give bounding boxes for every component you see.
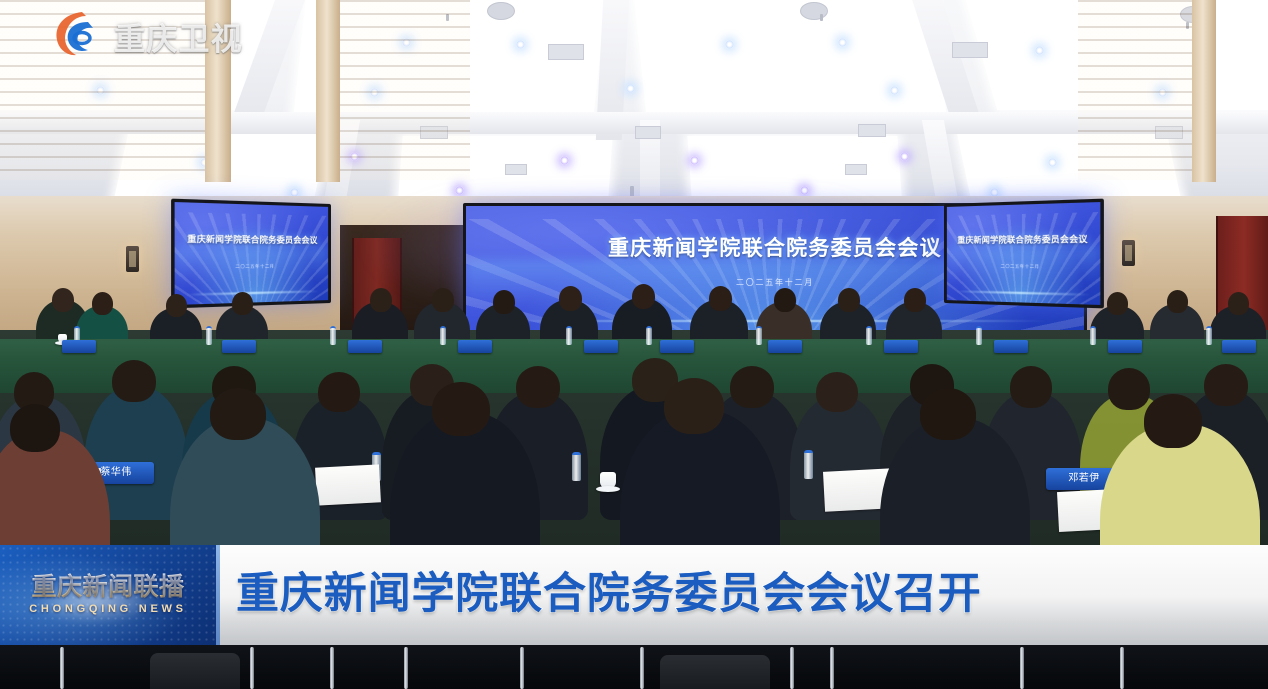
document-sheet	[315, 464, 381, 505]
program-name-en: CHONGQING NEWS	[0, 603, 216, 615]
wall-pilaster-right	[1192, 0, 1216, 182]
badge-panel-divider	[216, 545, 220, 645]
program-name-cn: 重庆新闻联播	[0, 567, 216, 603]
lower-third-banner: 重庆新闻联播 CHONGQING NEWS 重庆新闻学院联合院务委员会会议召开	[0, 545, 1268, 645]
wall-panel-center-left	[330, 0, 470, 180]
tea-cup	[600, 472, 616, 488]
headline-text: 重庆新闻学院联合院务委员会会议召开	[236, 559, 982, 621]
side-display-left-title: 重庆新闻学院联合院务委员会会议	[175, 233, 329, 246]
wall-panel-right	[1078, 0, 1198, 180]
program-badge: 重庆新闻联播 CHONGQING NEWS	[0, 545, 216, 645]
side-display-left: 重庆新闻学院联合院务委员会会议 二〇二五年十二月	[171, 199, 331, 309]
water-bottle	[804, 450, 813, 479]
side-display-right: 重庆新闻学院联合院务委员会会议 二〇二五年十二月	[944, 199, 1104, 309]
headline-panel: 重庆新闻学院联合院务委员会会议召开	[216, 545, 1268, 645]
wall-sconce-right	[1122, 240, 1135, 266]
chongqing-tv-logo-icon	[52, 8, 104, 58]
broadcast-frame: 重庆新闻学院联合院务委员会会议 二〇二五年十二月 重庆新闻学院联合院务委员会会议…	[0, 0, 1268, 689]
side-display-right-title: 重庆新闻学院联合院务委员会会议	[947, 233, 1101, 246]
wall-sconce-left	[126, 246, 139, 272]
channel-watermark-label: 重庆卫视	[114, 14, 243, 59]
channel-watermark: 重庆卫视	[52, 6, 322, 62]
water-bottle	[572, 452, 581, 481]
foreground-chairs	[0, 645, 1268, 689]
